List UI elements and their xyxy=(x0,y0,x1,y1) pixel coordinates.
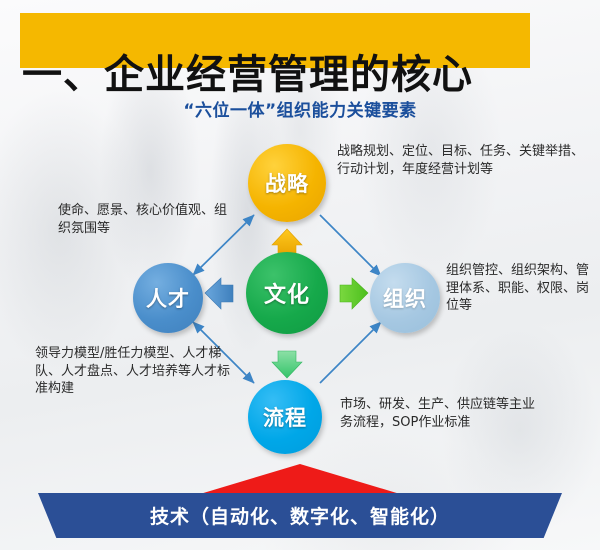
node-process[interactable]: 流程 xyxy=(248,380,322,454)
description-strategy: 战略规划、定位、目标、任务、关键举措、行动计划，年度经营计划等 xyxy=(337,143,587,178)
description-organization: 组织管控、组织架构、管理体系、职能、权限、岗位等 xyxy=(446,262,596,315)
node-culture[interactable]: 文化 xyxy=(246,252,328,334)
node-culture-label: 文化 xyxy=(264,277,310,309)
block-arrow-left xyxy=(205,278,233,309)
node-talent[interactable]: 人才 xyxy=(133,263,203,333)
slide-canvas: 一、企业经营管理的核心 “六位一体”组织能力关键要素 xyxy=(0,0,600,550)
node-organization[interactable]: 组织 xyxy=(370,263,440,333)
node-organization-label: 组织 xyxy=(383,283,427,313)
connector-strategy-organization xyxy=(320,215,381,276)
description-culture: 使命、愿景、核心价值观、组织氛围等 xyxy=(58,202,233,237)
node-strategy-label: 战略 xyxy=(265,168,309,198)
description-process: 市场、研发、生产、供应链等主业务流程，SOP作业标准 xyxy=(340,396,540,431)
connector-process-organization xyxy=(320,322,381,383)
description-talent: 领导力模型/胜任力模型、人才梯队、人才盘点、人才培养等人才标准构建 xyxy=(35,345,230,398)
block-arrow-down xyxy=(272,351,302,378)
node-process-label: 流程 xyxy=(263,402,307,432)
foundation-label: 技术（自动化、数字化、智能化） xyxy=(150,502,450,529)
block-arrow-right xyxy=(340,278,368,309)
node-talent-label: 人才 xyxy=(146,283,190,313)
node-strategy[interactable]: 战略 xyxy=(248,144,326,222)
foundation-band: 技术（自动化、数字化、智能化） xyxy=(38,493,562,538)
